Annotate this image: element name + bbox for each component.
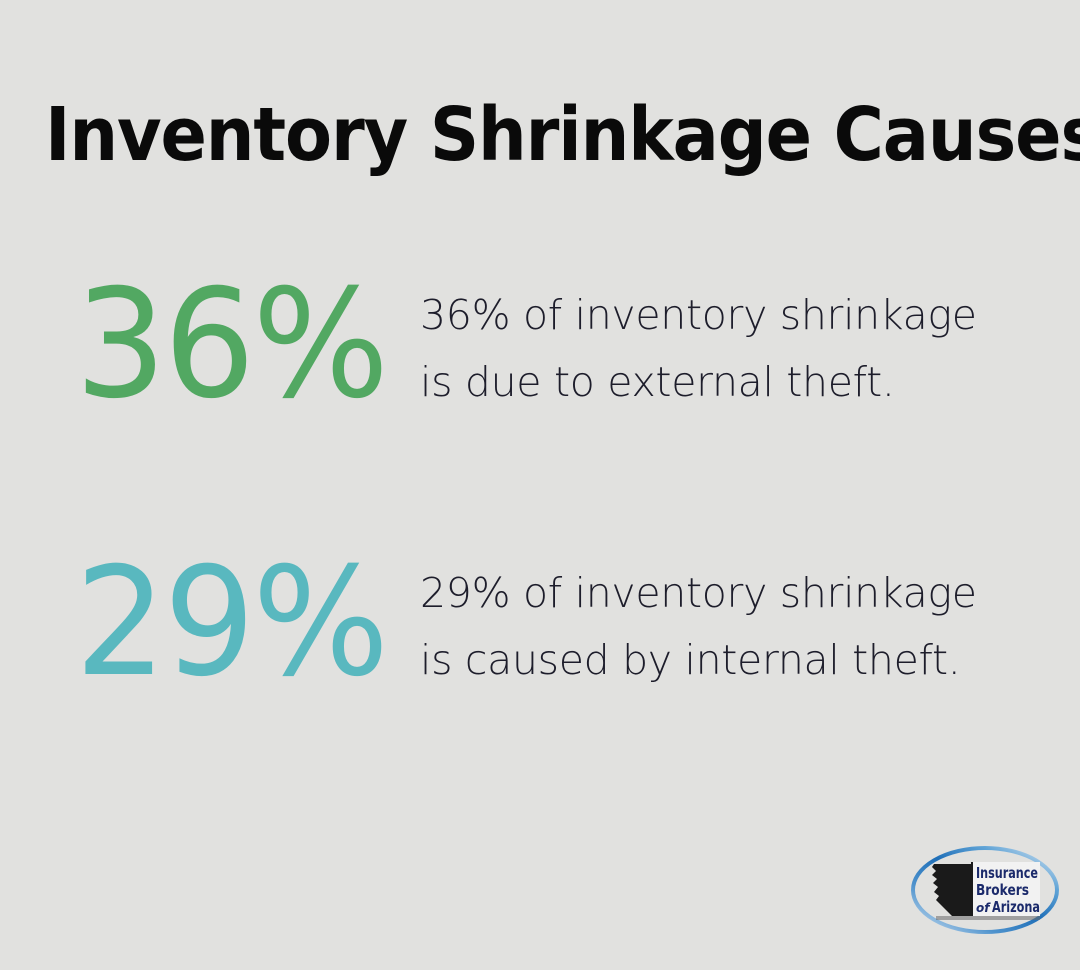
page-title: Inventory Shrinkage Causes bbox=[45, 92, 970, 178]
logo-shadow-bar bbox=[936, 916, 1040, 920]
logo-line-brokers: Brokers bbox=[976, 881, 1029, 899]
company-logo: Insurance Brokers of Arizona bbox=[906, 842, 1064, 938]
stat-description: 29% of inventory shrinkage is caused by … bbox=[420, 548, 1080, 694]
logo-line-arizona: Arizona bbox=[992, 898, 1040, 916]
logo-line-of: of bbox=[976, 901, 991, 915]
infographic-canvas: Inventory Shrinkage Causes 36% 36% of in… bbox=[0, 0, 1080, 970]
stat-figure-percentage: 29% bbox=[0, 548, 403, 698]
arizona-silhouette-icon bbox=[932, 864, 972, 916]
stat-row: 29% 29% of inventory shrinkage is caused… bbox=[0, 548, 1080, 748]
stat-figure-percentage: 36% bbox=[0, 270, 403, 420]
logo-divider bbox=[971, 862, 973, 916]
stat-row: 36% 36% of inventory shrinkage is due to… bbox=[0, 270, 1080, 470]
stat-description: 36% of inventory shrinkage is due to ext… bbox=[420, 270, 1080, 416]
logo-line-insurance: Insurance bbox=[976, 864, 1038, 882]
